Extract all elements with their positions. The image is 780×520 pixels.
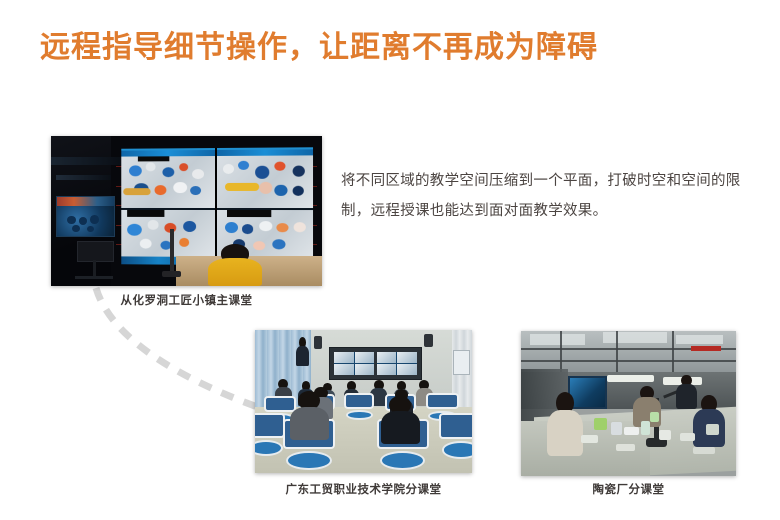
side-monitor xyxy=(56,196,115,237)
scene-factory-workshop xyxy=(521,331,736,476)
caption-main-classroom: 从化罗洞工匠小镇主课堂 xyxy=(51,292,322,308)
equipment-stand xyxy=(73,241,116,283)
scene-lecture-hall xyxy=(51,136,322,286)
slide-canvas: 远程指导细节操作，让距离不再成为障碍 将不同区域的教学空间压缩到一个平面，打破时… xyxy=(0,0,780,520)
mic-stand xyxy=(170,229,174,274)
photo-main-classroom[interactable] xyxy=(51,136,322,286)
led-screen-left xyxy=(121,148,215,265)
photo-branch-classroom[interactable] xyxy=(255,330,472,473)
instructor-figure xyxy=(208,244,262,286)
caption-branch-classroom: 广东工贸职业技术学院分课堂 xyxy=(255,481,472,497)
mic-base xyxy=(162,271,181,277)
page-title: 远程指导细节操作，让距离不再成为障碍 xyxy=(40,30,598,66)
front-display-screens xyxy=(329,347,422,380)
body-paragraph: 将不同区域的教学空间压缩到一个平面，打破时空和空间的限制，远程授课也能达到面对面… xyxy=(341,166,741,226)
photo-ceramics-factory[interactable] xyxy=(521,331,736,476)
scene-computer-classroom xyxy=(255,330,472,473)
caption-ceramics-factory: 陶瓷厂分课堂 xyxy=(521,481,736,497)
